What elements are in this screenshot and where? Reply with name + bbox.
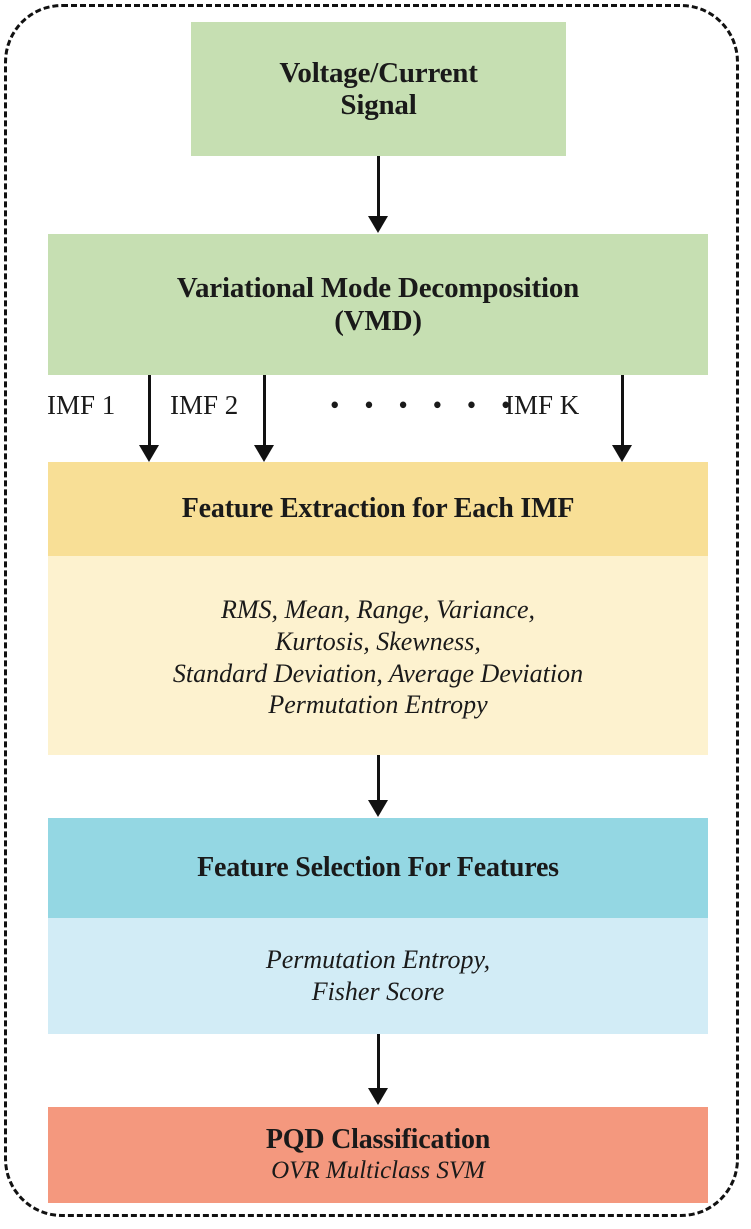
- block-title-line-1: Variational Mode Decomposition: [177, 272, 579, 304]
- feature-extraction-header: Feature Extraction for Each IMF: [48, 462, 708, 556]
- block-feature-extraction[interactable]: Feature Extraction for Each IMF RMS, Mea…: [48, 462, 708, 755]
- block-pqd-classification[interactable]: PQD Classification OVR Multiclass SVM: [48, 1107, 708, 1203]
- block-voltage-current-signal[interactable]: Voltage/Current Signal: [191, 22, 566, 156]
- imf-label-2: IMF 2: [170, 390, 238, 421]
- arrow-head: [368, 800, 388, 817]
- flowchart-canvas: Voltage/Current Signal Variational Mode …: [0, 0, 751, 1229]
- block-title-line-2: (VMD): [334, 305, 422, 337]
- feature-selection-header: Feature Selection For Features: [48, 818, 708, 918]
- feature-extraction-list: RMS, Mean, Range, Variance, Kurtosis, Sk…: [48, 556, 708, 757]
- feature-item: Standard Deviation, Average Deviation: [173, 658, 583, 690]
- selection-item: Fisher Score: [312, 976, 445, 1008]
- feature-item: Kurtosis, Skewness,: [275, 626, 481, 658]
- arrow-shaft: [377, 1034, 380, 1090]
- block-title-line-2: Signal: [340, 89, 416, 121]
- arrow-head: [612, 445, 632, 462]
- arrow-head: [254, 445, 274, 462]
- arrow-shaft: [621, 375, 624, 447]
- imf-label-1: IMF 1: [47, 390, 115, 421]
- feature-item: Permutation Entropy: [268, 689, 487, 721]
- pqd-classification-title: PQD Classification: [266, 1124, 490, 1155]
- block-variational-mode-decomposition[interactable]: Variational Mode Decomposition (VMD): [48, 234, 708, 375]
- feature-selection-list: Permutation Entropy, Fisher Score: [48, 918, 708, 1034]
- selection-item: Permutation Entropy,: [266, 944, 490, 976]
- block-feature-selection[interactable]: Feature Selection For Features Permutati…: [48, 818, 708, 1034]
- imf-label-k: IMF K: [505, 390, 579, 421]
- block-title-line-1: Voltage/Current: [279, 57, 477, 89]
- pqd-classification-subtitle: OVR Multiclass SVM: [271, 1156, 485, 1187]
- arrow-head: [368, 1088, 388, 1105]
- feature-extraction-header-label: Feature Extraction for Each IMF: [182, 493, 574, 524]
- feature-selection-header-label: Feature Selection For Features: [197, 852, 559, 883]
- imf-ellipsis: • • • • • •: [330, 390, 519, 421]
- feature-item: RMS, Mean, Range, Variance,: [221, 594, 535, 626]
- arrow-head: [368, 216, 388, 233]
- arrow-head: [139, 445, 159, 462]
- arrow-shaft: [148, 375, 151, 447]
- arrow-shaft: [377, 755, 380, 803]
- arrow-shaft: [263, 375, 266, 447]
- arrow-shaft: [377, 156, 380, 218]
